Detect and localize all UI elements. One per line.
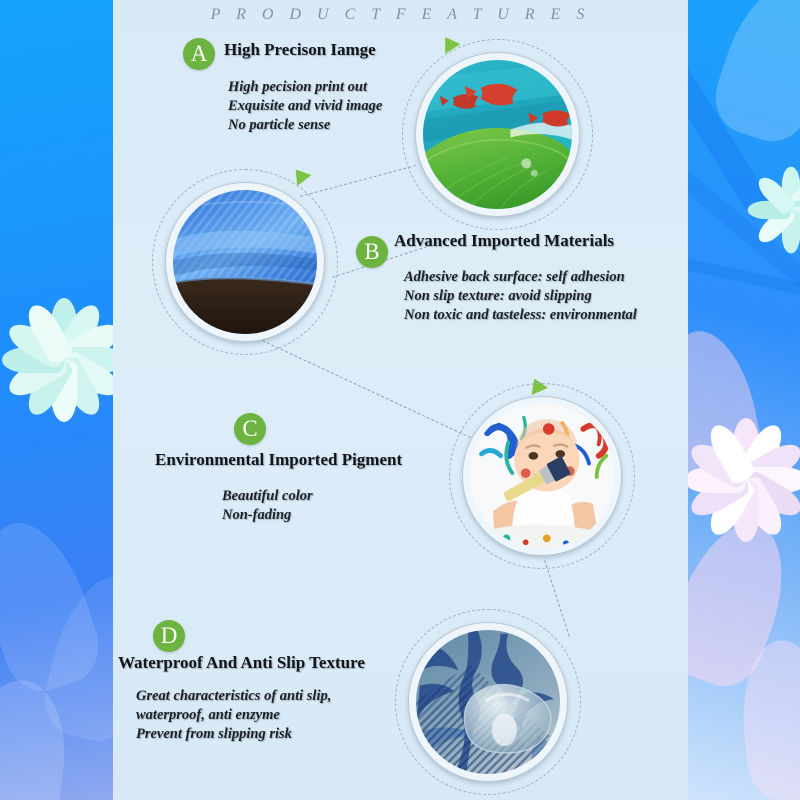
product-features-infographic: P R O D U C T F E A T U R E S A High Pre… [0, 0, 800, 800]
feature-description-d: Great characteristics of anti slip, wate… [136, 687, 331, 744]
feature-badge-c: C [234, 413, 266, 445]
feature-photo-a-image [423, 60, 572, 209]
left-flower-ornament [14, 310, 113, 410]
feature-photo-a [415, 52, 580, 217]
feature-badge-d: D [153, 620, 185, 652]
feature-photo-b-image [173, 190, 317, 334]
left-decorative-band [0, 0, 113, 800]
feature-photo-c-image [470, 404, 614, 548]
right-decorative-band [688, 0, 800, 800]
right-flower-ornament [696, 430, 796, 530]
feature-badge-a: A [183, 38, 215, 70]
feature-photo-d [408, 622, 568, 782]
page-title: P R O D U C T F E A T U R E S [113, 6, 688, 24]
feature-photo-b [165, 182, 325, 342]
feature-title-a: High Precison Iamge [224, 40, 376, 60]
feature-title-d: Waterproof And Anti Slip Texture [118, 653, 365, 673]
feature-title-b: Advanced Imported Materials [394, 231, 614, 251]
feature-photo-d-image [416, 630, 560, 774]
feature-badge-b: B [356, 236, 388, 268]
right-flower-ornament-small [767, 186, 800, 235]
feature-description-c: Beautiful color Non-fading [222, 487, 313, 525]
feature-description-b: Adhesive back surface: self adhesion Non… [404, 268, 637, 325]
feature-title-c: Environmental Imported Pigment [155, 450, 402, 470]
feature-photo-c [462, 396, 622, 556]
feature-description-a: High pecision print out Exquisite and vi… [228, 78, 382, 135]
